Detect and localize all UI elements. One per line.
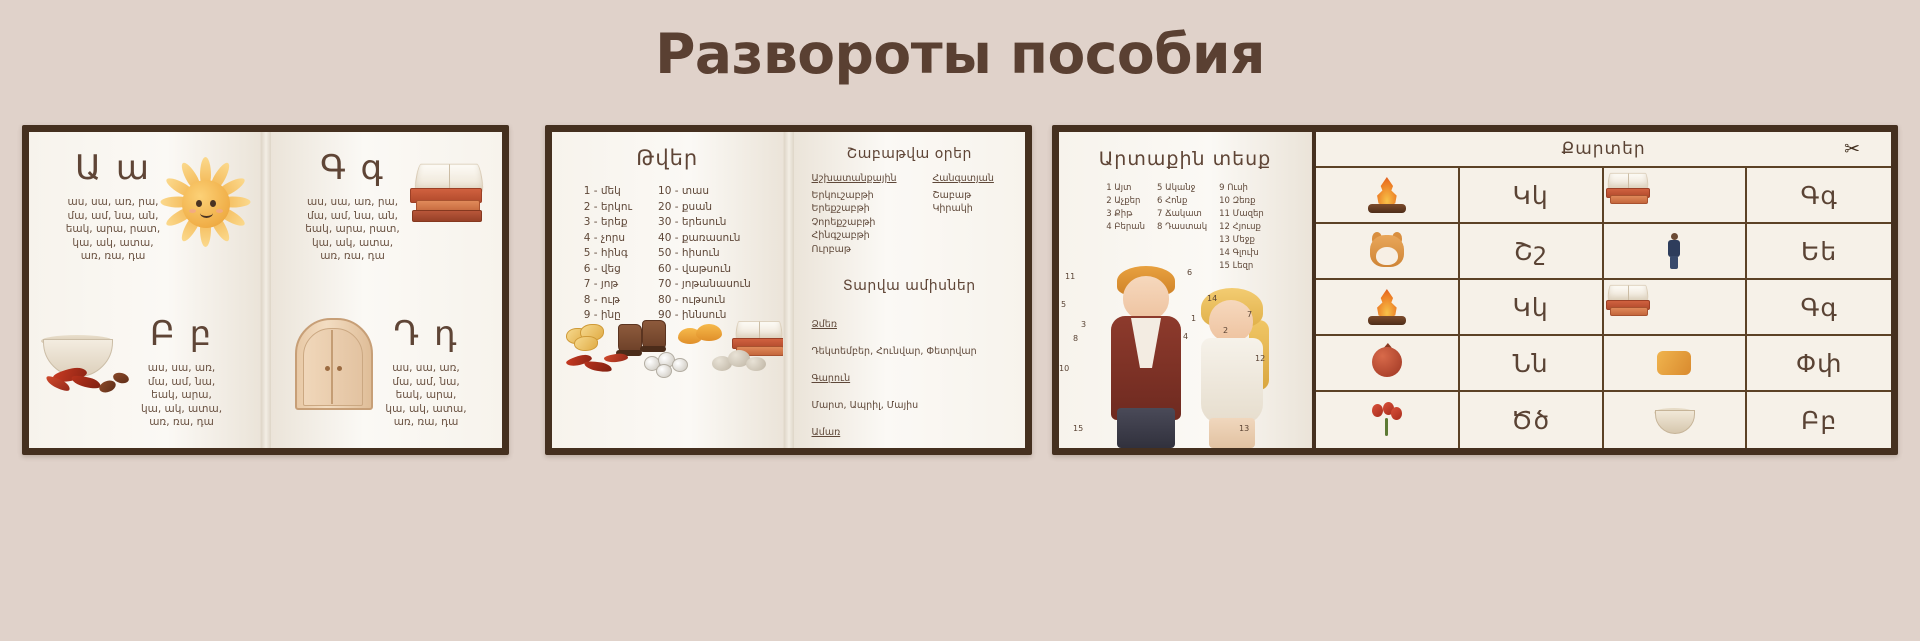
card-cell-image-pomegranate[interactable] — [1316, 336, 1460, 392]
card-cell-image-books[interactable] — [1604, 168, 1748, 224]
nuts-illustration — [644, 350, 700, 376]
books-icon — [1606, 284, 1648, 316]
stones-illustration — [712, 348, 782, 376]
numbers-units-column: 1 - մեկ 2 - երկու 3 - երեք 4 - չորս 5 - … — [584, 184, 632, 324]
syllables-d: աս, սա, առ, մա, ամ, նա, եակ, արա, կա, ակ… — [362, 362, 490, 430]
months-heading: Տարվա ամիսներ — [812, 278, 1007, 294]
book-gutter — [261, 132, 271, 448]
numbers-book-spread: Թվեր 1 - մեկ 2 - երկու 3 - երեք 4 - չորս… — [545, 125, 1032, 455]
candy-icon — [1651, 343, 1697, 383]
numbers-left-page: Թվեր 1 - մեկ 2 - երկու 3 - երեք 4 - չորս… — [552, 132, 784, 448]
card-cell-image-campfire[interactable] — [1316, 280, 1460, 336]
bowl-icon — [1651, 400, 1697, 440]
card-cell-letter[interactable]: Ծծ — [1460, 392, 1604, 448]
book-gutter — [784, 132, 794, 448]
books-icon — [1606, 172, 1648, 204]
letter-block-d: Դ դ աս, սա, առ, մա, ամ, նա, եակ, արա, կա… — [362, 314, 490, 430]
callout-4: 4 — [1183, 332, 1188, 341]
callout-5: 5 — [1061, 300, 1066, 309]
season-spring-months: Մարտ, Ապրիլ, Մայիս — [812, 399, 1007, 413]
card-cell-letter[interactable]: Գգ — [1747, 168, 1891, 224]
weekdays-weekend-heading: Հանգստյան — [932, 172, 1007, 186]
callout-7: 7 — [1247, 310, 1252, 319]
card-cell-letter[interactable]: Բբ — [1747, 392, 1891, 448]
callout-2: 2 — [1223, 326, 1228, 335]
chips-illustration — [566, 324, 610, 350]
callout-6: 6 — [1187, 268, 1192, 277]
card-cell-letter[interactable]: Շշ — [1460, 224, 1604, 280]
cards-heading-row: Քարտեր ✂ — [1316, 132, 1891, 168]
callout-14: 14 — [1207, 294, 1217, 303]
card-letter: Եե — [1801, 237, 1837, 266]
card-cell-image-flowers[interactable] — [1316, 392, 1460, 448]
card-cell-letter[interactable]: Եե — [1747, 224, 1891, 280]
body-parts-page: Արտաքին տեսք 1 Այտ 2 Աչքեր 3 Քիթ 4 Բերան… — [1059, 132, 1312, 448]
man-icon — [1651, 231, 1697, 271]
card-cell-image-books[interactable] — [1604, 280, 1748, 336]
weekdays-working-list: Երկուշաբթի Երեքշաբթի Չորեքշաբթի Հինգշաբթ… — [812, 189, 915, 257]
card-cell-letter[interactable]: Փփ — [1747, 336, 1891, 392]
numbers-tens-column: 10 - տաս 20 - քսան 30 - երեսուն 40 - քառ… — [658, 184, 751, 324]
card-cell-letter[interactable]: Գգ — [1747, 280, 1891, 336]
card-letter: Կկ — [1513, 181, 1549, 210]
card-cell-image-dog[interactable] — [1316, 224, 1460, 280]
card-letter: Բբ — [1801, 406, 1837, 435]
pomegranate-icon — [1364, 343, 1410, 383]
weekdays-working-heading: Աշխատանքային — [812, 172, 915, 186]
cards-grid: Կկ Գգ Շշ — [1316, 168, 1891, 448]
dog-icon — [1364, 231, 1410, 271]
weekdays-heading: Շաբաթվա օրեր — [812, 146, 1007, 162]
callout-10: 10 — [1059, 364, 1069, 373]
numbers-right-page: Շաբաթվա օրեր Աշխատանքային Երկուշաբթի Երե… — [794, 132, 1025, 448]
page-title: Развороты пособия — [0, 22, 1920, 86]
campfire-icon — [1364, 175, 1410, 215]
letter-block-b: Բ բ աս, սա, առ, մա, ամ, նա, եակ, արա, կա… — [118, 314, 246, 430]
card-cell-letter[interactable]: Կկ — [1460, 280, 1604, 336]
season-winter-label: Ձմեռ — [812, 318, 1007, 332]
card-cell-image-bowl[interactable] — [1604, 392, 1748, 448]
card-cell-image-campfire[interactable] — [1316, 168, 1460, 224]
flowers-icon — [1364, 400, 1410, 440]
callout-15: 15 — [1073, 424, 1083, 433]
callout-3: 3 — [1081, 320, 1086, 329]
syllables-b: աս, սա, առ, մա, ամ, նա, եակ, արա, կա, ակ… — [118, 362, 246, 430]
card-cell-image-man[interactable] — [1604, 224, 1748, 280]
scissors-icon: ✂ — [1844, 138, 1861, 160]
cards-heading: Քարտեր — [1561, 139, 1645, 159]
numbers-illustrations — [560, 320, 775, 376]
callout-12: 12 — [1255, 354, 1265, 363]
sun-illustration — [158, 154, 254, 250]
card-letter: Փփ — [1796, 349, 1843, 378]
season-winter-months: Դեկտեմբեր, Հունվար, Փետրվար — [812, 345, 1007, 359]
cards-panel: Քարտեր ✂ Կկ Գգ — [1312, 132, 1891, 448]
card-cell-image-candy[interactable] — [1604, 336, 1748, 392]
letter-heading-b: Բ բ — [118, 314, 246, 354]
open-book-illustration — [402, 158, 494, 230]
callout-13: 13 — [1239, 424, 1249, 433]
callout-8: 8 — [1073, 334, 1078, 343]
campfire-icon — [1364, 287, 1410, 327]
callout-11: 11 — [1065, 272, 1075, 281]
card-letter: Նն — [1513, 349, 1549, 378]
boy-and-girl-illustration: 11 6 5 14 3 1 8 4 7 2 10 12 15 13 — [1059, 258, 1311, 448]
card-letter: Շշ — [1514, 237, 1547, 266]
body-parts-heading: Արտաքին տեսք — [1059, 148, 1311, 170]
alphabet-book-spread: Ա ա աս, սա, առ, րա, մա, ամ, նա, ան, եակ,… — [22, 125, 509, 455]
card-letter: Կկ — [1513, 293, 1549, 322]
letter-heading-d: Դ դ — [362, 314, 490, 354]
callout-1: 1 — [1191, 314, 1196, 323]
numbers-heading: Թվեր — [552, 146, 783, 170]
season-summer-label: Ամառ — [812, 426, 1007, 440]
card-letter: Ծծ — [1511, 406, 1550, 435]
card-letter: Գգ — [1800, 293, 1837, 322]
alphabet-right-page: Գ գ աս, սա, առ, րա, մա, ամ, նա, ան, եակ,… — [271, 132, 502, 448]
season-spring-label: Գարուն — [812, 372, 1007, 386]
alphabet-left-page: Ա ա աս, սա, առ, րա, մա, ամ, նա, ան, եակ,… — [29, 132, 261, 448]
card-cell-letter[interactable]: Կկ — [1460, 168, 1604, 224]
peppers-illustration — [564, 350, 634, 376]
card-letter: Գգ — [1800, 181, 1837, 210]
card-cell-letter[interactable]: Նն — [1460, 336, 1604, 392]
body-cards-book-spread: Արտաքին տեսք 1 Այտ 2 Աչքեր 3 Քիթ 4 Բերան… — [1052, 125, 1898, 455]
weekdays-weekend-list: Շաբաթ Կիրակի — [932, 189, 1007, 216]
